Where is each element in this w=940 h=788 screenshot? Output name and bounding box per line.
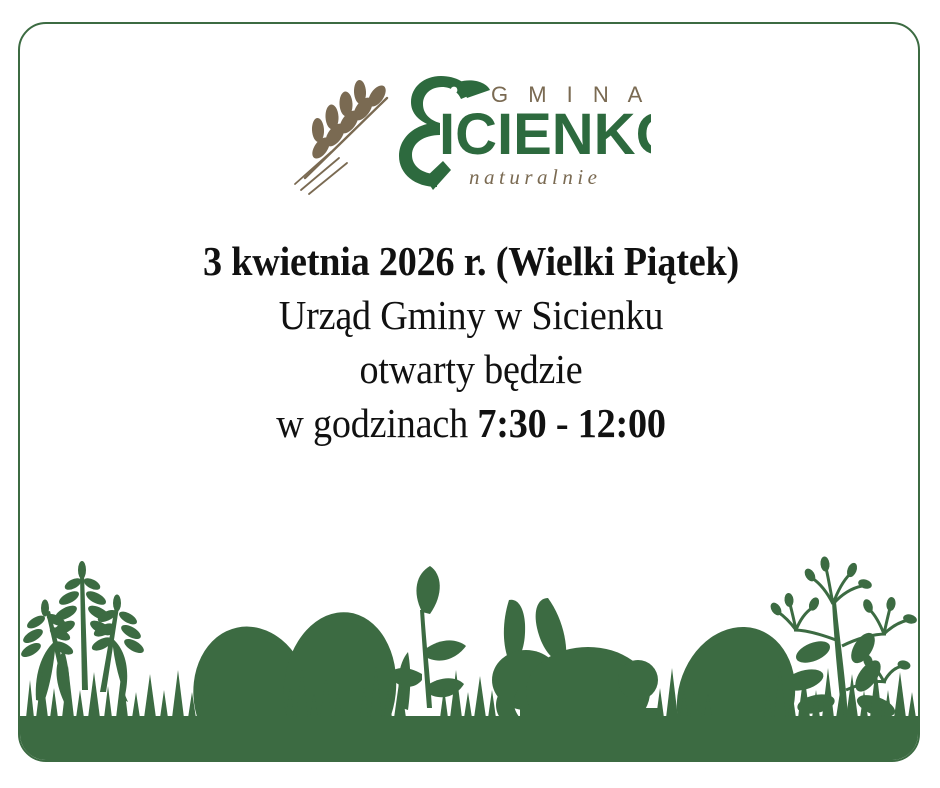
easter-illustration-svg	[20, 540, 920, 760]
logo-header: G M I N A ICIENKO naturalnie	[20, 66, 920, 206]
easter-opening-hours-poster: G M I N A ICIENKO naturalnie 3 kwietnia …	[0, 0, 940, 788]
announcement-hours: w godzinach 7:30 - 12:00	[52, 398, 891, 448]
announcement-hours-value: 7:30 - 12:00	[477, 400, 665, 446]
announcement-hours-prefix: w godzinach	[276, 400, 477, 446]
grass	[20, 716, 920, 760]
logo-sicienko-text: ICIENKO	[439, 102, 651, 167]
announcement-date: 3 kwietnia 2026 r. (Wielki Piątek)	[52, 236, 891, 286]
easter-illustration	[20, 540, 920, 760]
announcement-status: otwarty będzie	[52, 344, 891, 394]
fern-plant	[20, 561, 146, 703]
gmina-sicienko-logo: G M I N A ICIENKO naturalnie	[291, 66, 651, 196]
announcement-text: 3 kwietnia 2026 r. (Wielki Piątek) Urząd…	[20, 236, 920, 448]
announcement-office: Urząd Gminy w Sicienku	[52, 290, 891, 340]
wheat-icon	[295, 80, 389, 194]
logo-tagline-text: naturalnie	[469, 165, 602, 189]
poster-frame: G M I N A ICIENKO naturalnie 3 kwietnia …	[18, 22, 920, 762]
